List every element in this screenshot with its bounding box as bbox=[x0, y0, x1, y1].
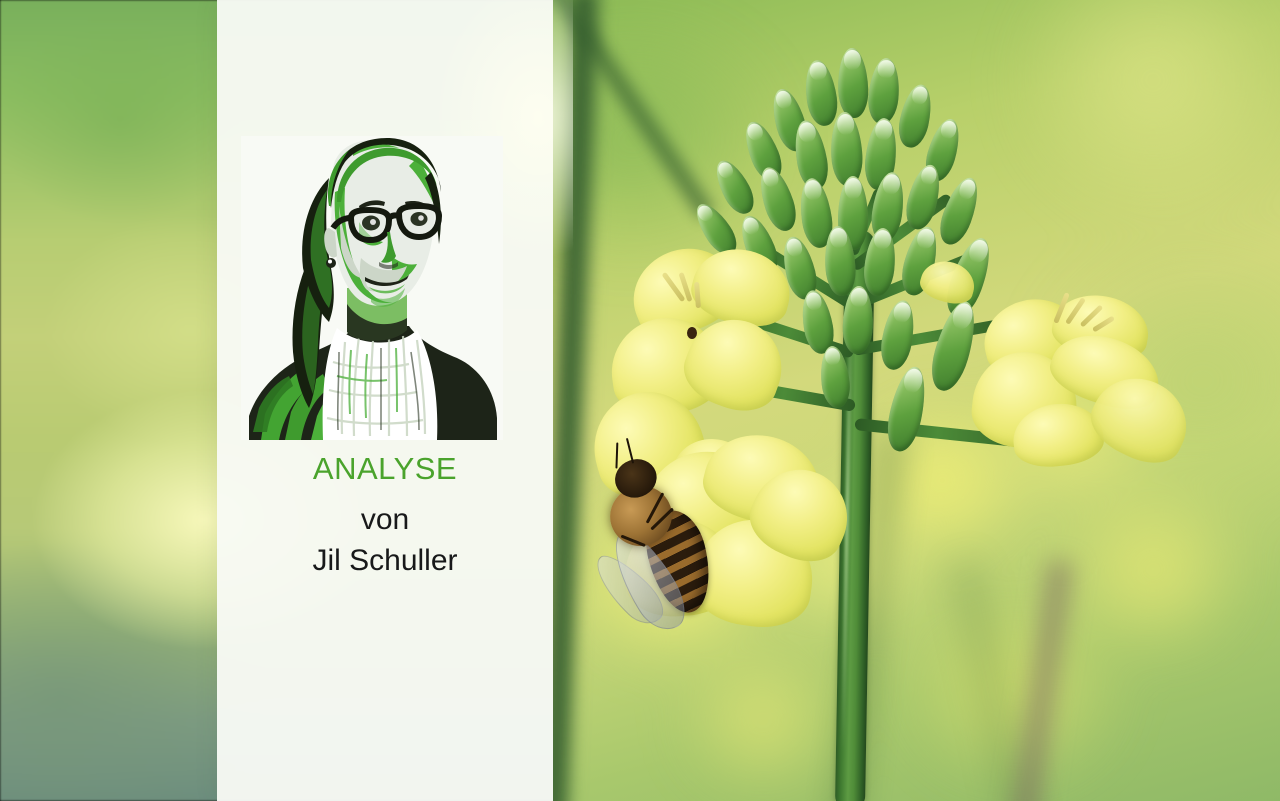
author-card: ANALYSE von Jil Schuller bbox=[217, 0, 553, 801]
author-name: Jil Schuller bbox=[217, 541, 553, 582]
byline-prefix: von bbox=[361, 503, 409, 536]
teaser-stage: ANALYSE von Jil Schuller bbox=[0, 0, 1280, 801]
card-text-block: ANALYSE von Jil Schuller bbox=[217, 452, 553, 582]
byline: von Jil Schuller bbox=[217, 500, 553, 582]
author-portrait bbox=[241, 136, 503, 440]
flower-center-dot bbox=[687, 327, 697, 339]
hero-photo bbox=[553, 0, 1280, 801]
kicker-label: ANALYSE bbox=[217, 452, 553, 486]
